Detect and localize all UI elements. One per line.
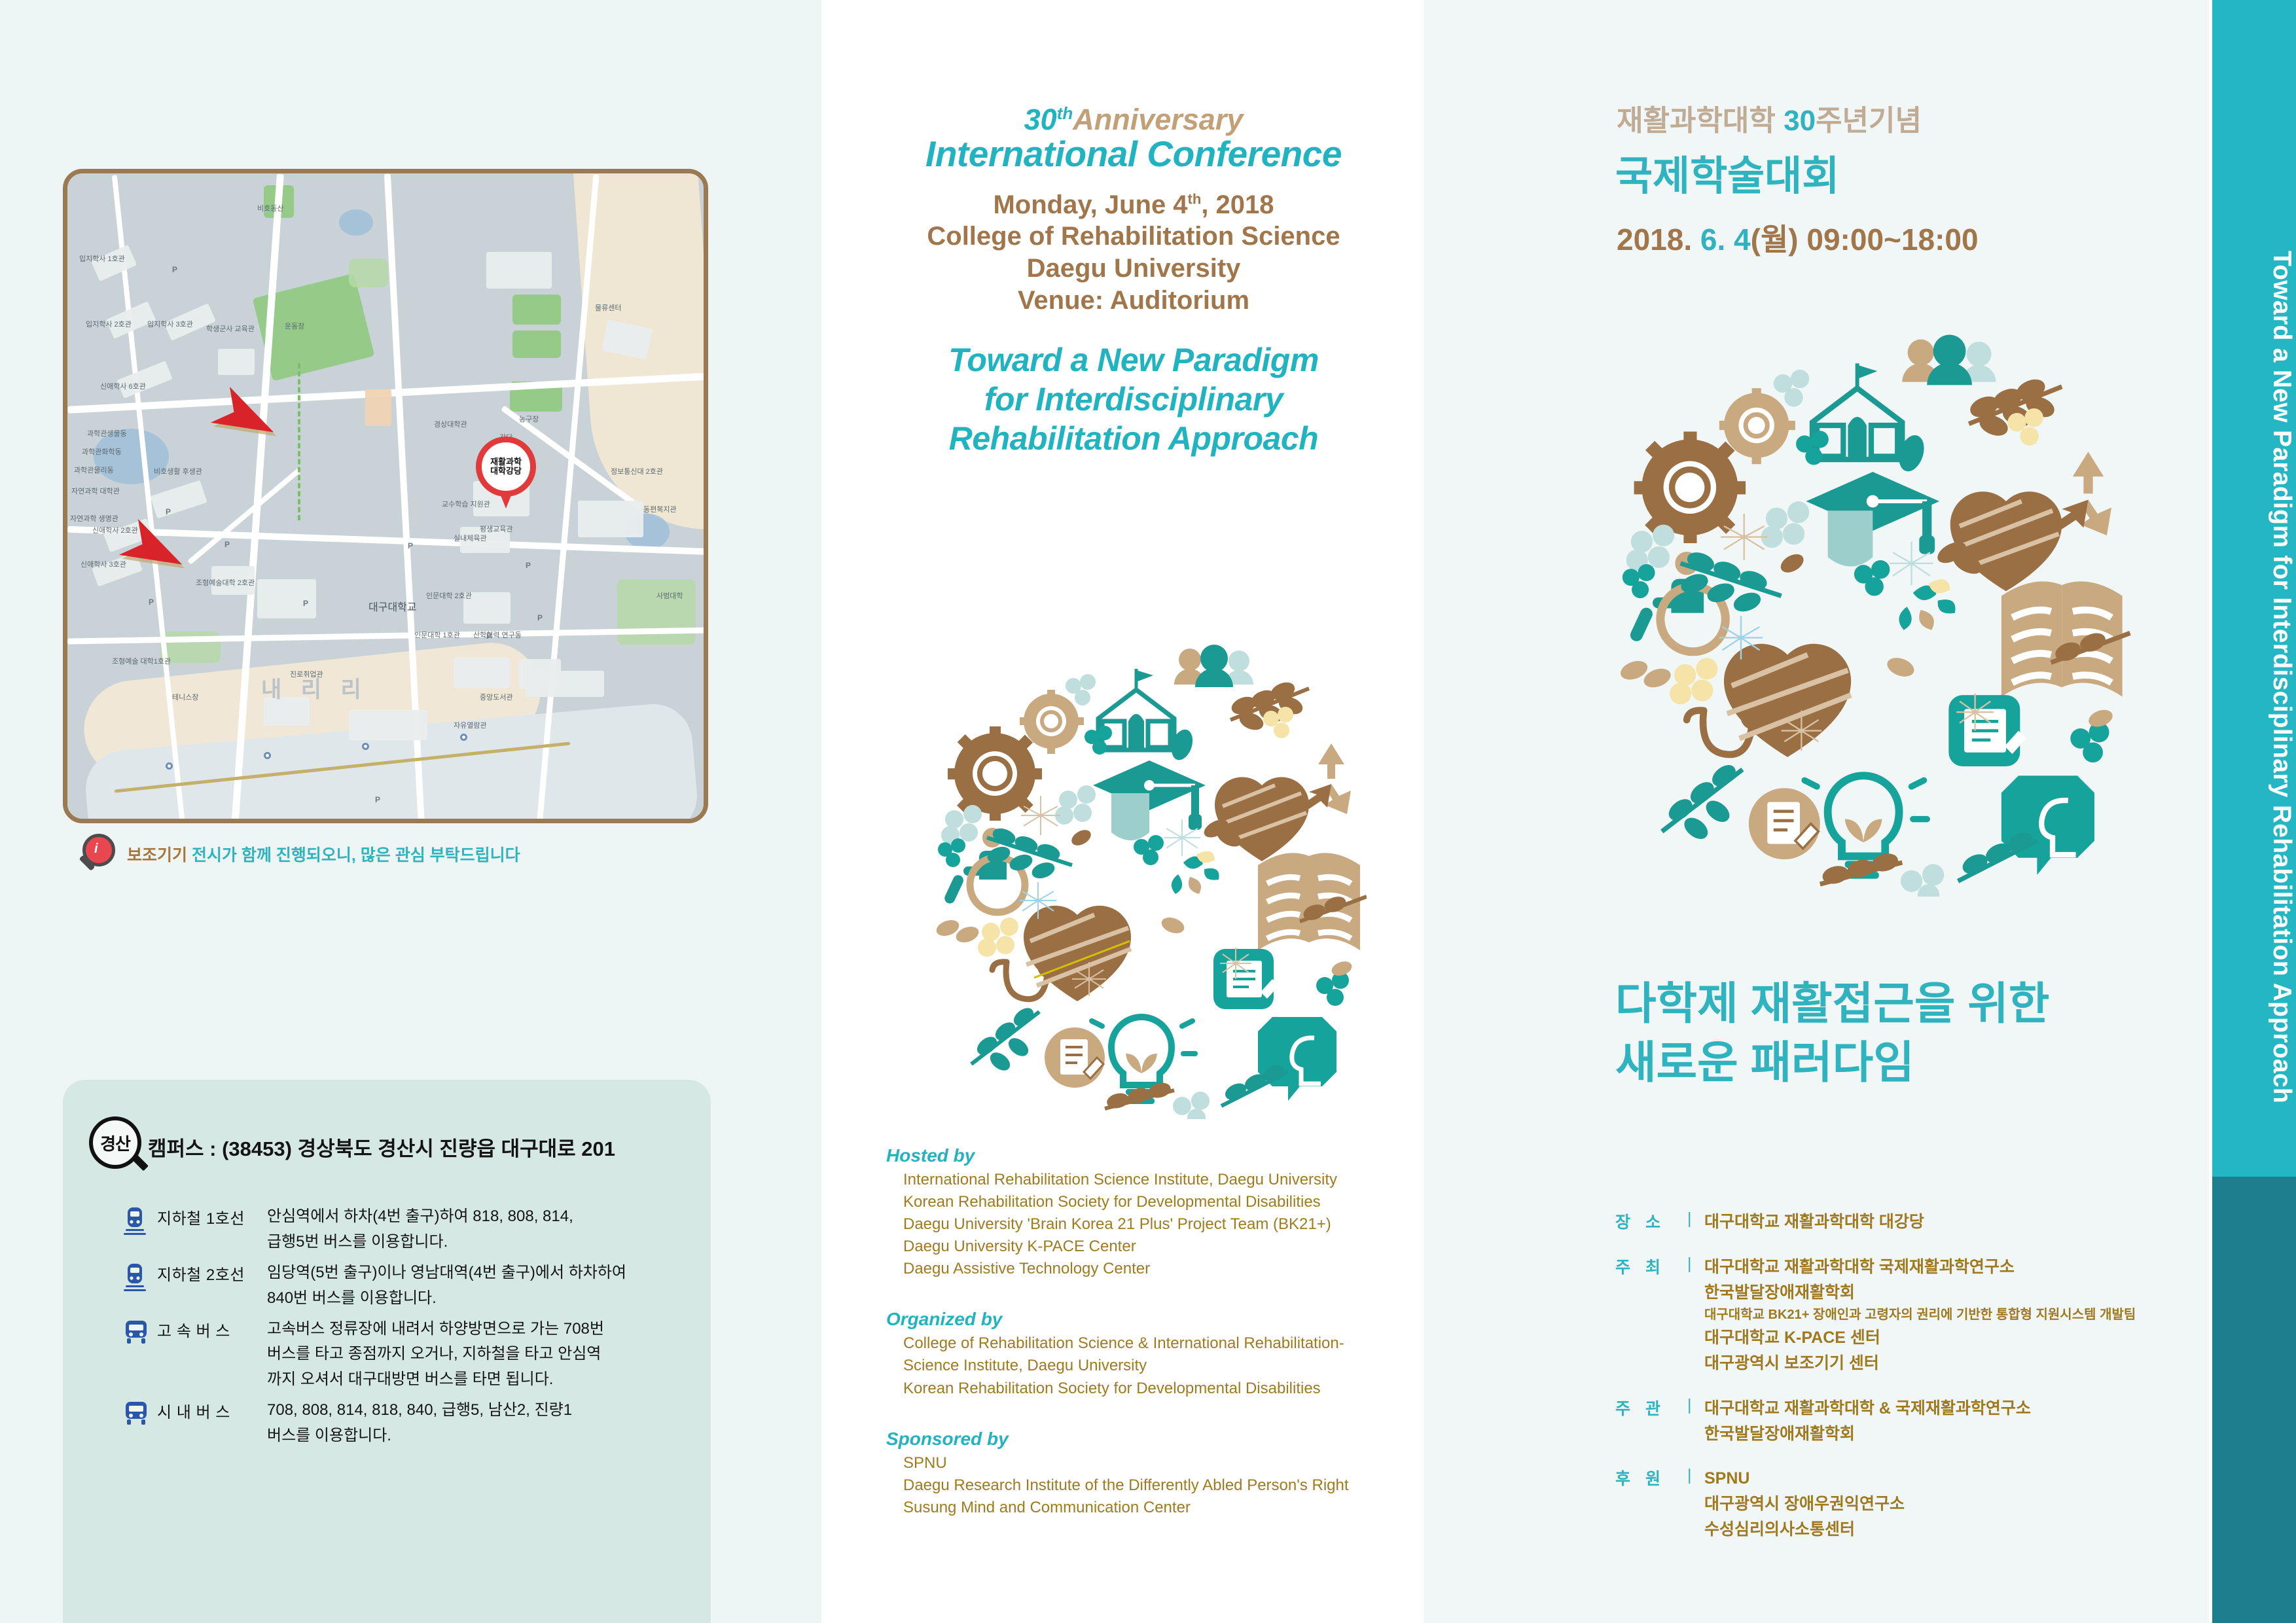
center-header: 30thAnniversary International Conference… bbox=[846, 105, 1422, 458]
map-label: 신애학사 2호관 bbox=[92, 527, 138, 535]
map-parking-marker: P bbox=[375, 795, 380, 804]
concept-collage-illustration bbox=[908, 622, 1367, 1119]
subway-icon bbox=[123, 1204, 157, 1255]
map-metro-station bbox=[264, 752, 271, 759]
detail-separator: | bbox=[1687, 1255, 1704, 1376]
sponsored-by-heading: Sponsored by bbox=[886, 1429, 1403, 1450]
detail-value: 대구광역시 장애우권익연구소 bbox=[1704, 1491, 2178, 1517]
detail-values: 대구대학교 재활과학대학 대강당 bbox=[1704, 1209, 2178, 1235]
detail-separator: | bbox=[1687, 1209, 1704, 1235]
campus-map[interactable]: 비호동산 입지학사 1호관 입지학사 2호관 입지학사 3호관 학생군사 교육관… bbox=[63, 169, 708, 823]
transit-row-subway-line2: 지하철 2호선 임당역(5번 출구)이나 영남대역(4번 출구)에서 하차하여 … bbox=[123, 1260, 686, 1311]
sponsored-by-item: Daegu Research Institute of the Differen… bbox=[886, 1474, 1403, 1497]
map-label: 과학관생물동 bbox=[87, 430, 127, 438]
detail-key: 주 관 bbox=[1615, 1396, 1687, 1447]
detail-row-host: 주 최 | 대구대학교 재활과학대학 국제재활과학연구소 한국발달장애재활학회 … bbox=[1615, 1255, 2178, 1376]
map-label: 비호동산 bbox=[257, 205, 283, 213]
pin-head: 재활과학 대학강당 bbox=[476, 437, 536, 497]
bus-icon bbox=[123, 1398, 157, 1449]
map-label: 신애학사 6호관 bbox=[100, 383, 146, 391]
head-profile-icon bbox=[1258, 1017, 1336, 1101]
flower-icon bbox=[1055, 785, 1096, 825]
flower-icon bbox=[1626, 525, 1674, 571]
head-profile-icon bbox=[2001, 776, 2094, 875]
branch-icon-teal-2 bbox=[971, 1007, 1039, 1071]
flower-icon bbox=[1854, 560, 1890, 596]
flower-icon bbox=[1066, 674, 1096, 705]
heart-icon bbox=[1950, 491, 2062, 591]
leaf-icon-brown bbox=[1778, 550, 1807, 576]
flower-icon bbox=[1670, 658, 1717, 704]
bus-icon bbox=[123, 1317, 157, 1393]
detail-row-sponsor: 후 원 | SPNU 대구광역시 장애우권익연구소 수성심리의사소통센터 bbox=[1615, 1466, 2178, 1542]
korean-date-year: 2018. bbox=[1617, 223, 1700, 257]
korean-date-line: 2018. 6. 4(월) 09:00~18:00 bbox=[1617, 216, 1979, 259]
map-green-right bbox=[617, 579, 696, 645]
map-parking-marker: P bbox=[166, 507, 171, 516]
hosted-by-item: Daegu University K-PACE Center bbox=[886, 1236, 1403, 1258]
pin-label-line2: 대학강당 bbox=[490, 467, 522, 476]
center-poster-card: 30thAnniversary International Conference… bbox=[846, 72, 1422, 1590]
detail-value: 한국발달장애재활학회 bbox=[1704, 1280, 2178, 1306]
detail-key: 주 최 bbox=[1615, 1255, 1687, 1376]
event-college: College of Rehabilitation Science bbox=[846, 221, 1422, 253]
anniversary-word: Anniversary bbox=[1073, 103, 1243, 136]
organized-by-block: Organized by College of Rehabilitation S… bbox=[886, 1309, 1403, 1399]
transit-label: 고 속 버 스 bbox=[157, 1317, 267, 1393]
korean-theme-title: 다학제 재활접근을 위한 새로운 패러다임 bbox=[1615, 975, 2049, 1093]
hosted-by-item: Korean Rehabilitation Society for Develo… bbox=[886, 1191, 1403, 1213]
map-building-highlight bbox=[365, 389, 391, 426]
anniversary-line: 30thAnniversary bbox=[846, 105, 1422, 134]
spine-title: Toward a New Paradigm for Interdisciplin… bbox=[2212, 22, 2296, 1331]
map-metro-station bbox=[166, 762, 173, 770]
map-label: 신애학사 3호관 bbox=[81, 561, 126, 569]
sponsored-by-item: SPNU bbox=[886, 1452, 1403, 1474]
korean-theme-line-1: 다학제 재활접근을 위한 bbox=[1615, 975, 2049, 1034]
map-building bbox=[578, 501, 643, 537]
event-date-pre: Monday, June 4 bbox=[993, 190, 1187, 219]
people-group-icon bbox=[1174, 645, 1253, 687]
detail-key: 장 소 bbox=[1615, 1209, 1687, 1235]
leaf-icon-brown bbox=[1069, 827, 1094, 848]
recycle-icon bbox=[2057, 452, 2111, 535]
sponsored-by-item: Susung Mind and Communication Center bbox=[886, 1497, 1403, 1519]
transit-list: 지하철 1호선 안심역에서 하차(4번 출구)하여 818, 808, 814,… bbox=[123, 1204, 686, 1454]
conference-theme: Toward a New Paradigm for Interdisciplin… bbox=[846, 340, 1422, 458]
map-label: 평생교육관 bbox=[480, 526, 513, 534]
gear-icon bbox=[1634, 431, 1746, 543]
right-spine: Toward a New Paradigm for Interdisciplin… bbox=[2212, 0, 2296, 1623]
directions-card: 경산 캠퍼스 : (38453) 경상북도 경산시 진량읍 대구대로 201 지… bbox=[63, 1080, 711, 1623]
korean-date-weekday: (월) bbox=[1751, 223, 1807, 257]
korean-theme-line-2: 새로운 패러다임 bbox=[1615, 1034, 2049, 1093]
map-label: 조형예술대학 2호관 bbox=[196, 579, 255, 588]
map-label: 자유열람관 bbox=[454, 722, 487, 730]
anniversary-number: 30 bbox=[1024, 103, 1057, 136]
map-label: 조형예술 대학1호관 bbox=[112, 658, 171, 666]
map-label: 인문대학 2호관 bbox=[426, 592, 472, 601]
map-parking-marker: P bbox=[224, 540, 230, 549]
organizers-section: Hosted by International Rehabilitation S… bbox=[886, 1145, 1403, 1548]
fan-leaves-icon bbox=[1899, 579, 1955, 630]
detail-values: 대구대학교 재활과학대학 국제재활과학연구소 한국발달장애재활학회 대구대학교 … bbox=[1704, 1255, 2178, 1376]
map-lake-small bbox=[339, 209, 373, 236]
school-flag bbox=[1136, 670, 1153, 682]
map-label: 비호생활 후생관 bbox=[154, 468, 202, 476]
transit-label: 지하철 2호선 bbox=[157, 1260, 267, 1311]
map-label: 학생군사 교육관 bbox=[206, 325, 255, 334]
flower-icon bbox=[1316, 972, 1349, 1006]
note-prefix: 보조기기 bbox=[127, 846, 187, 865]
concept-collage-illustration-right bbox=[1584, 308, 2134, 897]
seed-icon bbox=[1884, 654, 1916, 680]
korean-date-monthday: 6. 4 bbox=[1700, 223, 1751, 257]
event-date-line: Monday, June 4th, 2018 bbox=[846, 189, 1422, 221]
transit-text: 고속버스 정류장에 내려서 하양방면으로 가는 708번 버스를 타고 종점까지… bbox=[267, 1317, 686, 1393]
detail-values: SPNU 대구광역시 장애우권익연구소 수성심리의사소통센터 bbox=[1704, 1466, 2178, 1542]
map-label: 입지학사 1호관 bbox=[79, 255, 125, 264]
detail-value: 대구대학교 재활과학대학 국제재활과학연구소 bbox=[1704, 1255, 2178, 1280]
school-door bbox=[1848, 417, 1866, 458]
event-date-sup: th bbox=[1188, 190, 1202, 207]
map-tennis-b bbox=[512, 330, 561, 358]
map-label: 경상대학관 bbox=[434, 421, 467, 429]
document-edit-icon bbox=[1045, 1027, 1105, 1088]
map-label: 사범대학 bbox=[656, 592, 683, 601]
map-parking-marker: P bbox=[408, 541, 413, 550]
notebook-icon bbox=[1948, 695, 2026, 766]
transit-label: 시 내 버 스 bbox=[157, 1398, 267, 1449]
flower-icon bbox=[938, 838, 965, 867]
school-flag bbox=[1857, 365, 1878, 379]
campus-address-header: 경산 캠퍼스 : (38453) 경상북도 경산시 진량읍 대구대로 201 bbox=[89, 1116, 615, 1177]
note-rest: 전시가 함께 진행되오니, 많은 관심 부탁드립니다 bbox=[192, 846, 520, 865]
school-door bbox=[1128, 714, 1144, 749]
map-label: 자연과학 대학관 bbox=[71, 488, 120, 496]
organized-by-item: Korean Rehabilitation Society for Develo… bbox=[886, 1378, 1403, 1400]
heart-icon bbox=[1215, 777, 1309, 861]
map-label-district: 내 리 리 bbox=[261, 677, 368, 703]
hosted-by-item: Daegu Assistive Technology Center bbox=[886, 1258, 1403, 1280]
detail-value: 대구대학교 BK21+ 장애인과 고령자의 권리에 기반한 통합형 지원시스템 … bbox=[1704, 1305, 2178, 1325]
flower-icon bbox=[1623, 564, 1655, 598]
flower-icon bbox=[978, 918, 1018, 957]
event-university: Daegu University bbox=[846, 253, 1422, 285]
map-label: 정보통신대 2호관 bbox=[611, 468, 663, 476]
anniversary-suffix: th bbox=[1057, 103, 1073, 123]
detail-value: 대구대학교 재활과학대학 대강당 bbox=[1704, 1209, 2178, 1235]
map-metro-station bbox=[460, 734, 467, 741]
fan-leaves-icon bbox=[1172, 851, 1219, 894]
hosted-by-heading: Hosted by bbox=[886, 1145, 1403, 1166]
detail-value: 대구광역시 보조기기 센터 bbox=[1704, 1351, 2178, 1376]
map-building bbox=[454, 658, 510, 688]
document-edit-icon bbox=[1749, 788, 1820, 859]
map-label-university: 대구대학교 bbox=[368, 602, 417, 614]
korean-main-title: 국제학술대회 bbox=[1615, 143, 1839, 202]
map-parking-marker: P bbox=[486, 632, 492, 641]
map-label: 실내체육관 bbox=[454, 535, 487, 543]
map-label: 과학관물리동 bbox=[74, 467, 114, 475]
sponsored-by-block: Sponsored by SPNU Daegu Research Institu… bbox=[886, 1429, 1403, 1519]
map-building bbox=[486, 252, 552, 289]
transit-text: 안심역에서 하차(4번 출구)하여 818, 808, 814, 급행5번 버스… bbox=[267, 1204, 686, 1255]
kicker-number: 30 bbox=[1784, 105, 1816, 137]
map-label: 인문대학 1호관 bbox=[414, 632, 460, 640]
hosted-by-item: International Rehabilitation Science Ins… bbox=[886, 1169, 1403, 1191]
korean-kicker: 재활과학대학 30주년기념 bbox=[1617, 97, 1922, 139]
map-label: 동편복지관 bbox=[643, 506, 677, 514]
flower-icon bbox=[941, 805, 982, 844]
seed-icon bbox=[1159, 915, 1186, 936]
map-parking-marker: P bbox=[537, 613, 543, 622]
flower-icon bbox=[1761, 501, 1809, 548]
kicker-college: 재활과학대학 bbox=[1617, 105, 1776, 137]
flower-icon bbox=[2070, 722, 2109, 763]
map-metro-station bbox=[362, 743, 369, 750]
theme-line-1: Toward a New Paradigm bbox=[846, 340, 1422, 380]
exhibition-note-text: 보조기기 전시가 함께 진행되오니, 많은 관심 부탁드립니다 bbox=[127, 842, 520, 866]
korean-date-time: 09:00~18:00 bbox=[1806, 223, 1978, 257]
event-date-post: , 2018 bbox=[1201, 190, 1274, 219]
conference-name: International Conference bbox=[846, 134, 1422, 175]
magnifier-badge-icon: 경산 bbox=[89, 1116, 145, 1177]
map-parking-marker: P bbox=[526, 561, 531, 570]
transit-text: 708, 808, 814, 818, 840, 급행5, 남산2, 진량1 버… bbox=[267, 1398, 686, 1449]
map-label: 산학협력 연구동 bbox=[473, 632, 522, 640]
map-label: 운동장 bbox=[285, 323, 304, 331]
map-label: 테니스장 bbox=[172, 694, 198, 702]
graduation-cap-icon bbox=[1093, 760, 1206, 840]
transit-text: 임당역(5번 출구)이나 영남대역(4번 출구)에서 하차하여 840번 버스를… bbox=[267, 1260, 686, 1311]
detail-value: SPNU bbox=[1704, 1466, 2178, 1491]
flower-icon bbox=[1134, 835, 1164, 865]
map-location-pin[interactable]: 재활과학 대학강당 bbox=[476, 437, 536, 508]
theme-line-3: Rehabilitation Approach bbox=[846, 419, 1422, 458]
hosted-by-item: Daegu University 'Brain Korea 21 Plus' P… bbox=[886, 1213, 1403, 1236]
map-parking-marker: P bbox=[172, 265, 177, 274]
organized-by-item: College of Rehabilitation Science & Inte… bbox=[886, 1332, 1403, 1355]
flower-icon bbox=[1173, 1092, 1210, 1119]
detail-key: 후 원 bbox=[1615, 1466, 1687, 1542]
map-label: 물류센터 bbox=[595, 304, 621, 313]
theme-line-2: for Interdisciplinary bbox=[846, 380, 1422, 419]
exhibition-note: i 보조기기 전시가 함께 진행되오니, 많은 관심 부탁드립니다 bbox=[77, 834, 520, 874]
subway-icon bbox=[123, 1260, 157, 1311]
recycle-icon bbox=[1305, 743, 1351, 814]
pin-label-line1: 재활과학 bbox=[490, 457, 522, 467]
transit-row-city-bus: 시 내 버 스 708, 808, 814, 818, 840, 급행5, 남산… bbox=[123, 1398, 686, 1449]
map-building bbox=[526, 671, 604, 697]
detail-value: 대구대학교 재활과학대학 & 국제재활과학연구소 bbox=[1704, 1396, 2178, 1421]
map-label: 중앙도서관 bbox=[480, 694, 513, 702]
transit-row-express-bus: 고 속 버 스 고속버스 정류장에 내려서 하양방면으로 가는 708번 버스를… bbox=[123, 1317, 686, 1393]
people-group-icon bbox=[1902, 334, 1996, 385]
event-venue: Venue: Auditorium bbox=[846, 285, 1422, 317]
detail-separator: | bbox=[1687, 1396, 1704, 1447]
campus-badge-label: 경산 bbox=[100, 1131, 130, 1155]
map-building bbox=[349, 710, 427, 740]
flower-icon bbox=[1774, 370, 1809, 407]
detail-value: 한국발달장애재활학회 bbox=[1704, 1421, 2178, 1447]
organized-by-item: Science Institute, Daegu University bbox=[886, 1355, 1403, 1377]
transit-label: 지하철 1호선 bbox=[157, 1204, 267, 1255]
detail-separator: | bbox=[1687, 1466, 1704, 1542]
map-label: 농구장 bbox=[519, 416, 539, 424]
detail-row-venue: 장 소 | 대구대학교 재활과학대학 대강당 bbox=[1615, 1209, 2178, 1235]
gear-icon bbox=[948, 726, 1042, 821]
map-green-mid bbox=[349, 259, 388, 287]
event-details: Monday, June 4th, 2018 College of Rehabi… bbox=[846, 189, 1422, 317]
korean-details-list: 장 소 | 대구대학교 재활과학대학 대강당 주 최 | 대구대학교 재활과학대… bbox=[1615, 1209, 2178, 1562]
detail-value: 수성심리의사소통센터 bbox=[1704, 1517, 2178, 1543]
map-building bbox=[218, 349, 255, 375]
notebook-icon bbox=[1213, 949, 1279, 1009]
detail-row-organizer: 주 관 | 대구대학교 재활과학대학 & 국제재활과학연구소 한국발달장애재활학… bbox=[1615, 1396, 2178, 1447]
map-tennis-a bbox=[512, 294, 561, 325]
flower-icon bbox=[1901, 864, 1944, 897]
graduation-cap-icon bbox=[1806, 472, 1939, 566]
map-label: 입지학사 3호관 bbox=[147, 321, 193, 329]
map-label: 과학관화학동 bbox=[82, 448, 122, 457]
detail-value: 대구대학교 K-PACE 센터 bbox=[1704, 1325, 2178, 1351]
hosted-by-block: Hosted by International Rehabilitation S… bbox=[886, 1145, 1403, 1280]
branch-icon-teal-2 bbox=[1662, 764, 1742, 840]
transit-row-subway-line1: 지하철 1호선 안심역에서 하차(4번 출구)하여 818, 808, 814,… bbox=[123, 1204, 686, 1255]
organized-by-heading: Organized by bbox=[886, 1309, 1403, 1330]
magnifier-info-icon: i bbox=[77, 834, 118, 874]
map-parking-marker: P bbox=[303, 599, 308, 608]
map-label: 입지학사 2호관 bbox=[86, 321, 132, 329]
map-parking-marker: P bbox=[149, 597, 154, 607]
kicker-anniversary: 주년기념 bbox=[1816, 105, 1922, 137]
map-path-dashed bbox=[298, 363, 300, 520]
map-label: 자연과학 생명관 bbox=[70, 515, 118, 524]
campus-address-text: 캠퍼스 : (38453) 경상북도 경산시 진량읍 대구대로 201 bbox=[148, 1132, 615, 1162]
detail-values: 대구대학교 재활과학대학 & 국제재활과학연구소 한국발달장애재활학회 bbox=[1704, 1396, 2178, 1447]
